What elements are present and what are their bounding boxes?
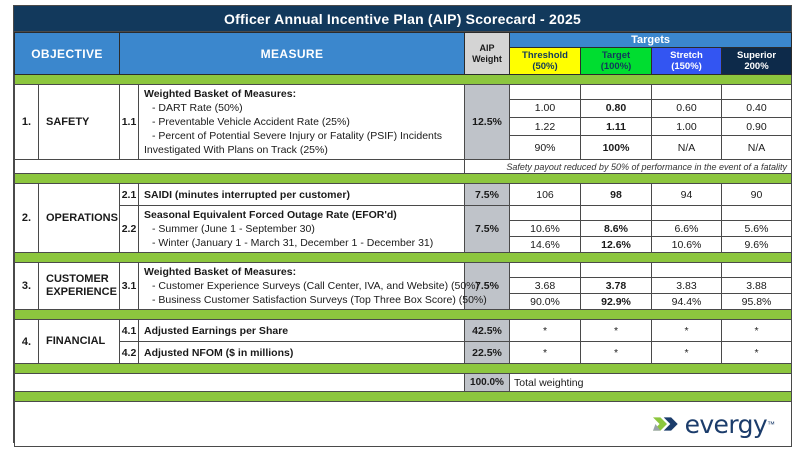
- separator-green-3: [15, 253, 792, 263]
- value-superior: 3.88: [722, 278, 792, 294]
- spacer-cell: [510, 206, 581, 221]
- value-stretch: N/A: [652, 136, 722, 160]
- value-target: 1.11: [581, 117, 652, 135]
- value-stretch: 94.4%: [652, 294, 722, 310]
- value-stretch: 3.83: [652, 278, 722, 294]
- col-header-aip-weight: AIP Weight: [465, 33, 510, 75]
- value-superior: 0.90: [722, 117, 792, 135]
- measure-line: - Winter (January 1 - March 31, December…: [144, 236, 459, 250]
- spacer-cell: [652, 85, 722, 100]
- value-superior: 5.6%: [722, 221, 792, 237]
- value-target: 98: [581, 184, 652, 206]
- objective-line1: CUSTOMER: [46, 273, 109, 285]
- separator-green-4: [15, 310, 792, 320]
- spacer-cell: [722, 263, 792, 278]
- measure-line: - Customer Experience Surveys (Call Cent…: [144, 279, 459, 293]
- total-weight: 100.0%: [465, 374, 510, 392]
- measure-id-3-1: 3.1: [120, 263, 139, 310]
- aip-weight-safety: 12.5%: [465, 85, 510, 160]
- section-number-financial: 4.: [15, 320, 39, 364]
- value-threshold: 14.6%: [510, 237, 581, 253]
- table-row: 3. CUSTOMER EXPERIENCE 3.1 Weighted Bask…: [15, 263, 792, 278]
- spacer-cell: [652, 206, 722, 221]
- measure-title: Weighted Basket of Measures:: [144, 265, 459, 279]
- spacer-cell: [510, 263, 581, 278]
- page-title: Officer Annual Incentive Plan (AIP) Scor…: [14, 6, 791, 32]
- threshold-pct: (50%): [510, 61, 580, 72]
- measure-line: - Percent of Potential Severe Injury or …: [144, 129, 459, 143]
- value-superior: 90: [722, 184, 792, 206]
- value-threshold: 1.00: [510, 99, 581, 117]
- measure-title: Seasonal Equivalent Forced Outage Rate (…: [144, 208, 459, 222]
- value-threshold: 1.22: [510, 117, 581, 135]
- spacer-cell: [652, 263, 722, 278]
- total-spacer: [15, 374, 465, 392]
- value-superior: *: [722, 342, 792, 364]
- measure-line: - DART Rate (50%): [144, 101, 459, 115]
- spacer-cell: [581, 263, 652, 278]
- evergy-wordmark: evergy: [685, 412, 767, 437]
- value-stretch: 1.00: [652, 117, 722, 135]
- section-number-safety: 1.: [15, 85, 39, 160]
- section-objective-safety: SAFETY: [39, 85, 120, 160]
- value-superior: N/A: [722, 136, 792, 160]
- value-stretch: *: [652, 320, 722, 342]
- measure-line: - Summer (June 1 - September 30): [144, 222, 459, 236]
- measure-line: - Preventable Vehicle Accident Rate (25%…: [144, 115, 459, 129]
- value-threshold: 10.6%: [510, 221, 581, 237]
- value-target: *: [581, 320, 652, 342]
- col-header-measure: MEASURE: [120, 33, 465, 75]
- measure-id-4-2: 4.2: [120, 342, 139, 364]
- evergy-chevron-icon: [653, 414, 681, 434]
- value-target: *: [581, 342, 652, 364]
- value-target: 100%: [581, 136, 652, 160]
- value-target: 92.9%: [581, 294, 652, 310]
- value-target: 12.6%: [581, 237, 652, 253]
- col-header-threshold: Threshold (50%): [510, 48, 581, 75]
- col-header-stretch: Stretch (150%): [652, 48, 722, 75]
- safety-footnote: Safety payout reduced by 50% of performa…: [465, 160, 792, 174]
- value-stretch: 6.6%: [652, 221, 722, 237]
- total-label: Total weighting: [510, 374, 792, 392]
- aip-weight-4-2: 22.5%: [465, 342, 510, 364]
- separator-green-5: [15, 364, 792, 374]
- value-threshold: 3.68: [510, 278, 581, 294]
- spacer-cell: [581, 206, 652, 221]
- value-stretch: 10.6%: [652, 237, 722, 253]
- measure-text-2-2: Seasonal Equivalent Forced Outage Rate (…: [139, 206, 465, 253]
- header-row-top: OBJECTIVE MEASURE AIP Weight Targets: [15, 33, 792, 48]
- superior-pct: 200%: [722, 61, 791, 72]
- spacer-cell: [722, 85, 792, 100]
- section-objective-financial: FINANCIAL: [39, 320, 120, 364]
- measure-id-1-1: 1.1: [120, 85, 139, 160]
- table-row: 4.2 Adjusted NFOM ($ in millions) 22.5% …: [15, 342, 792, 364]
- spacer-cell: [581, 85, 652, 100]
- stretch-pct: (150%): [652, 61, 721, 72]
- measure-id-2-2: 2.2: [120, 206, 139, 253]
- logo-row: evergy™: [15, 402, 792, 447]
- value-stretch: *: [652, 342, 722, 364]
- measure-id-2-1: 2.1: [120, 184, 139, 206]
- value-stretch: 94: [652, 184, 722, 206]
- value-superior: 95.8%: [722, 294, 792, 310]
- value-threshold: 106: [510, 184, 581, 206]
- col-header-targets-group: Targets: [510, 33, 792, 48]
- value-threshold: 90.0%: [510, 294, 581, 310]
- section-objective-customer: CUSTOMER EXPERIENCE: [39, 263, 120, 310]
- value-threshold: *: [510, 320, 581, 342]
- separator-green-1: [15, 75, 792, 85]
- target-name: Target: [581, 50, 651, 61]
- table-row: 2.2 Seasonal Equivalent Forced Outage Ra…: [15, 206, 792, 221]
- value-superior: 0.40: [722, 99, 792, 117]
- value-threshold: 90%: [510, 136, 581, 160]
- table-row: Safety payout reduced by 50% of performa…: [15, 160, 792, 174]
- aip-weight-2-1: 7.5%: [465, 184, 510, 206]
- section-number-customer: 3.: [15, 263, 39, 310]
- aip-weight-2-2: 7.5%: [465, 206, 510, 253]
- measure-text-1-1: Weighted Basket of Measures: - DART Rate…: [139, 85, 465, 160]
- measure-text-2-1: SAIDI (minutes interrupted per customer): [139, 184, 465, 206]
- table-row: 1. SAFETY 1.1 Weighted Basket of Measure…: [15, 85, 792, 100]
- stretch-name: Stretch: [652, 50, 721, 61]
- section-objective-operations: OPERATIONS: [39, 184, 120, 253]
- spacer-cell: [722, 206, 792, 221]
- value-threshold: *: [510, 342, 581, 364]
- measure-line: - Business Customer Satisfaction Surveys…: [144, 293, 459, 307]
- target-pct: (100%): [581, 61, 651, 72]
- measure-text-4-1: Adjusted Earnings per Share: [139, 320, 465, 342]
- trademark-symbol: ™: [767, 420, 775, 429]
- separator-green-6: [15, 392, 792, 402]
- superior-name: Superior: [722, 50, 791, 61]
- measure-line: Investigated With Plans on Track (25%): [144, 143, 459, 157]
- aip-weight-4-1: 42.5%: [465, 320, 510, 342]
- measure-id-4-1: 4.1: [120, 320, 139, 342]
- total-row: 100.0% Total weighting: [15, 374, 792, 392]
- col-header-superior: Superior 200%: [722, 48, 792, 75]
- value-target: 8.6%: [581, 221, 652, 237]
- value-target: 3.78: [581, 278, 652, 294]
- scorecard-table: OBJECTIVE MEASURE AIP Weight Targets Thr…: [14, 32, 792, 447]
- col-header-target: Target (100%): [581, 48, 652, 75]
- footnote-spacer: [15, 160, 465, 174]
- table-row: 4. FINANCIAL 4.1 Adjusted Earnings per S…: [15, 320, 792, 342]
- value-target: 0.80: [581, 99, 652, 117]
- objective-line2: EXPERIENCE: [46, 286, 117, 298]
- value-superior: *: [722, 320, 792, 342]
- aip-weight-line2: Weight: [472, 54, 502, 64]
- measure-title: Weighted Basket of Measures:: [144, 87, 459, 101]
- spacer-cell: [510, 85, 581, 100]
- scorecard-sheet: Officer Annual Incentive Plan (AIP) Scor…: [13, 5, 792, 443]
- value-stretch: 0.60: [652, 99, 722, 117]
- measure-text-4-2: Adjusted NFOM ($ in millions): [139, 342, 465, 364]
- separator-green-2: [15, 174, 792, 184]
- threshold-name: Threshold: [510, 50, 580, 61]
- section-number-operations: 2.: [15, 184, 39, 253]
- table-row: 2. OPERATIONS 2.1 SAIDI (minutes interru…: [15, 184, 792, 206]
- col-header-objective: OBJECTIVE: [15, 33, 120, 75]
- measure-text-3-1: Weighted Basket of Measures: - Customer …: [139, 263, 465, 310]
- aip-weight-line1: AIP: [479, 43, 494, 53]
- value-superior: 9.6%: [722, 237, 792, 253]
